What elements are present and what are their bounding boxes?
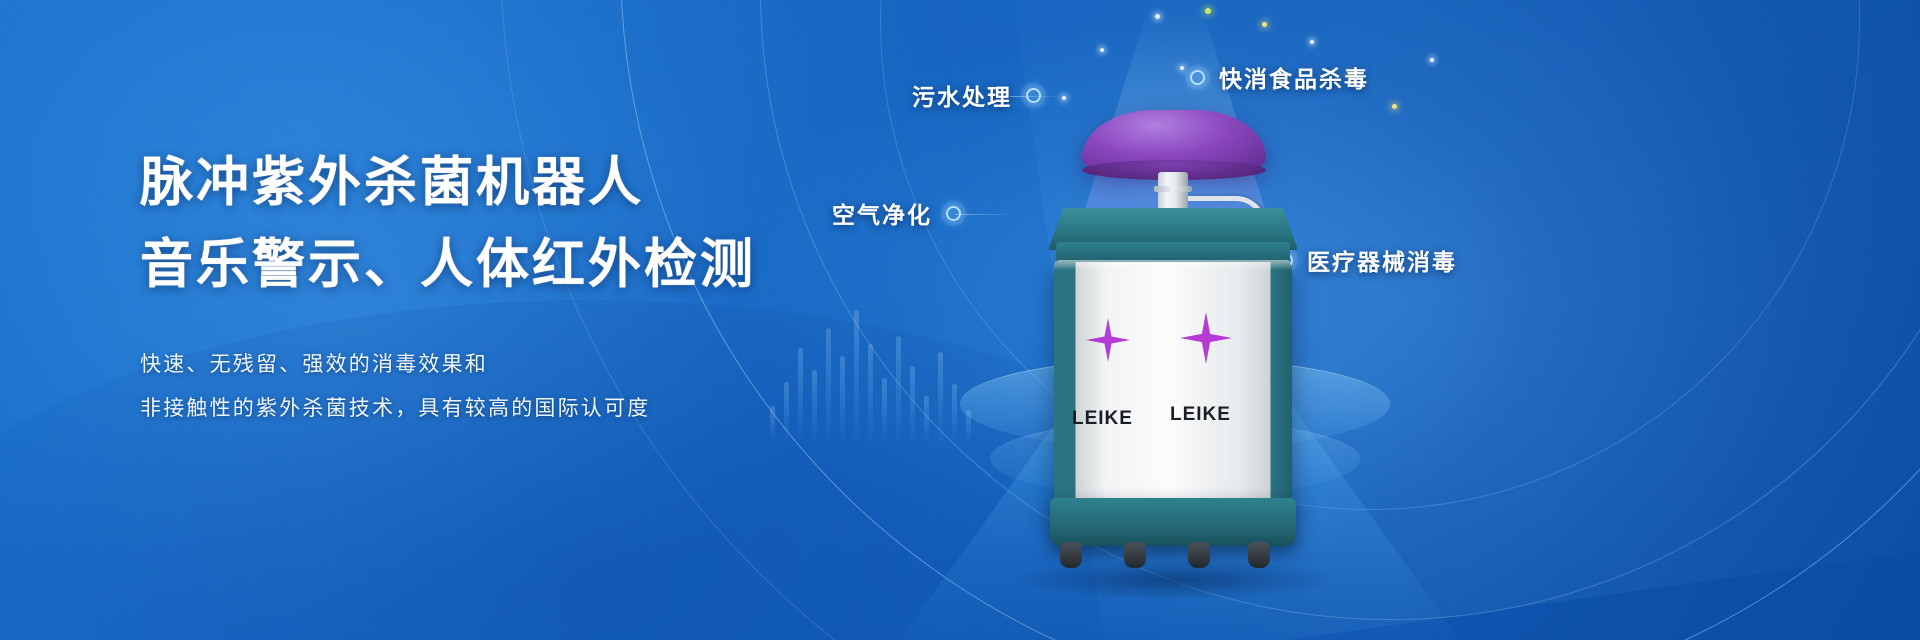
headline-line-2: 音乐警示、人体红外检测 [140, 228, 840, 302]
body-copy: 快速、无残留、强效的消毒效果和 非接触性的紫外杀菌技术，具有较高的国际认可度 [140, 342, 840, 430]
brand-label-left: LEIKE [1072, 408, 1133, 430]
product-illustration-uv-robot: LEIKE LEIKE [1020, 90, 1320, 510]
body-line-2: 非接触性的紫外杀菌技术，具有较高的国际认可度 [140, 386, 840, 430]
ground-shadow [1010, 560, 1340, 600]
base-unit [1050, 498, 1296, 546]
sparkle-3 [1262, 22, 1267, 27]
sparkle-4 [1310, 40, 1314, 44]
sparkle-8 [1392, 104, 1397, 109]
sparkle-2 [1205, 8, 1211, 14]
stem-band-1 [1154, 186, 1192, 192]
sparkle-9 [1430, 58, 1434, 62]
node-dot-icon [946, 206, 961, 221]
brand-label-right: LEIKE [1170, 404, 1231, 426]
body-top-highlight [1054, 260, 1292, 270]
hero-banner: 脉冲紫外杀菌机器人 音乐警示、人体红外检测 快速、无残留、强效的消毒效果和 非接… [0, 0, 1920, 640]
callout-air-label: 空气净化 [832, 196, 932, 230]
sparkle-5 [1100, 48, 1104, 52]
headline-line-1: 脉冲紫外杀菌机器人 [140, 146, 840, 220]
callout-air: 空气净化 [832, 196, 961, 230]
callout-wastewater-label: 污水处理 [912, 78, 1012, 112]
body-shell [1054, 262, 1292, 512]
lead-line-air [955, 214, 1015, 215]
copy-block: 脉冲紫外杀菌机器人 音乐警示、人体红外检测 快速、无残留、强效的消毒效果和 非接… [140, 146, 840, 430]
callout-food-label: 快消食品杀毒 [1219, 60, 1369, 94]
callout-medical-label: 医疗器械消毒 [1307, 243, 1457, 277]
body-line-1: 快速、无残留、强效的消毒效果和 [140, 342, 840, 386]
